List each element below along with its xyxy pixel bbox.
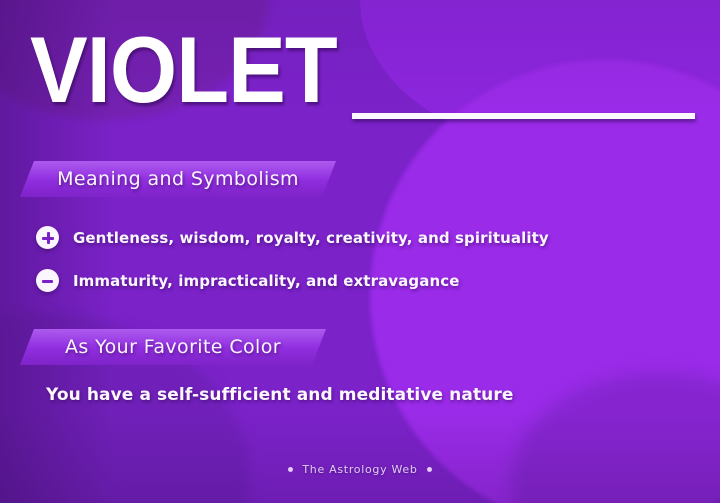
section-banner-meaning-and-symbolism: Meaning and Symbolism [20,161,336,197]
minus-icon [36,269,59,292]
page-title-text: VIOLET [30,22,646,117]
positive-traits-text: Gentleness, wisdom, royalty, creativity,… [73,229,549,247]
plus-icon [36,226,59,249]
list-item-positive-traits: Gentleness, wisdom, royalty, creativity,… [36,226,549,249]
footer-credit: The Astrology Web [0,463,720,476]
negative-traits-text: Immaturity, impracticality, and extravag… [73,272,460,290]
title-underline-rule [352,113,695,119]
footer-brand-label: The Astrology Web [302,463,417,476]
dot-icon-left [288,467,293,472]
list-item-negative-traits: Immaturity, impracticality, and extravag… [36,269,460,292]
dot-icon-right [427,467,432,472]
background-blob-bottom-right [510,373,720,503]
violet-color-infographic-card: VIOLET Meaning and Symbolism Gentleness,… [0,0,720,503]
section-banner-label: Meaning and Symbolism [57,168,299,190]
section-banner-as-your-favorite-color: As Your Favorite Color [20,329,326,365]
favorite-color-description: You have a self-sufficient and meditativ… [46,385,514,405]
page-title: VIOLET [30,22,700,127]
section-banner-label: As Your Favorite Color [65,336,281,358]
